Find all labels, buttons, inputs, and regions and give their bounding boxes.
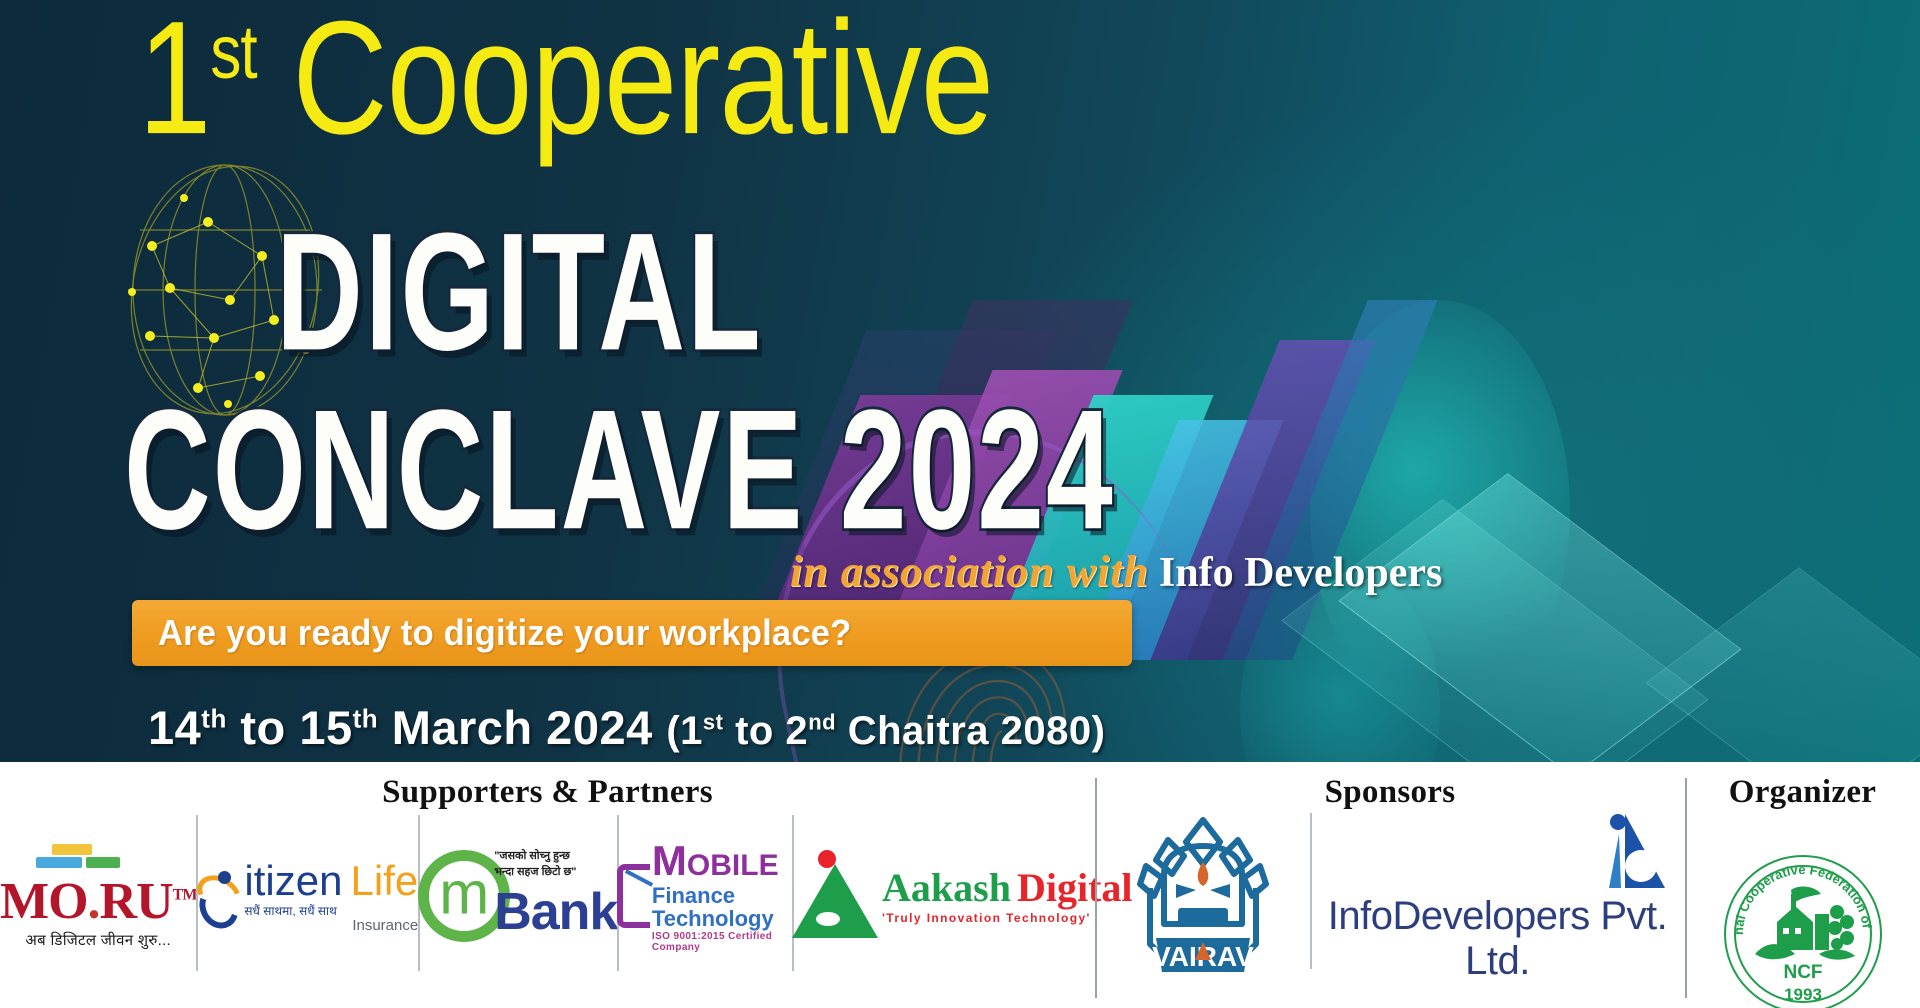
mft-word-rest: OBILE [687,849,779,882]
ncf-seal-icon: National Cooperative Federation of Nepal [1719,850,1887,1008]
moru-wordmark-dot: . [88,873,100,930]
date-bs-to: to 2 [723,709,808,753]
mft-mark-icon [617,864,650,928]
vairav-bhairav-mask-icon: VAIRAV [1128,812,1278,980]
citizen-life-wordmark: itizenLife [244,860,418,902]
date-month-year: March 2024 [378,701,666,754]
date-bs-month-year: Chaitra 2080) [836,709,1105,753]
date-bs-to-ordinal: nd [808,710,836,735]
citizen-life-word-accent: Life [350,857,418,904]
aakash-word-green: Aakash [882,865,1011,910]
tagline-text: Are you ready to digitize your workplace… [158,612,851,654]
aakash-triangle-icon [792,854,878,938]
mft-wordmark: MOBILE [652,839,792,883]
glass-cube-decoration [1281,499,1708,762]
date-day-from: 14 [148,701,201,754]
ncf-abbreviation: NCF [1783,962,1822,983]
association-line: in association withInfo Developers [790,546,1442,597]
association-partner: Info Developers [1159,550,1442,596]
event-banner-poster: 1st Cooperative DIGITAL CONCLAVE 2024 in… [0,0,1920,1008]
glass-cube-decoration [1646,567,1920,762]
citizen-life-tagline: सधैं साथमा, सधैं साथ [244,905,418,917]
mft-iso-certification: ISO 9001:2015 Certified Company [652,932,792,953]
logo-infodevelopers[interactable]: InfoDevelopers Pvt. Ltd. [1310,811,1685,981]
teal-glow-decoration [1310,300,1570,720]
title-line-digital: DIGITAL [276,196,763,389]
supporters-section-title: Supporters & Partners [0,762,1095,811]
infodevelopers-wordmark: InfoDevelopers Pvt. Ltd. [1310,894,1685,984]
title-line-conclave: CONCLAVE 2024 [124,372,1115,568]
mft-subtitle: Finance Technology [652,884,792,930]
infodevelopers-mark-icon [1310,808,1685,892]
event-date-line: 14th to 15th March 2024 (1st to 2nd Chai… [148,700,1105,755]
logo-mobile-finance-technology[interactable]: MOBILE Finance Technology ISO 9001:2015 … [617,811,792,981]
organizer-section: Organizer National Cooperative Federatio… [1685,762,1920,1008]
moru-trademark-icon: TM [173,887,197,904]
date-day-to: 15 [299,701,352,754]
mbank-tagline-line2: भन्दा सहज छिटो छ" [494,866,617,880]
hero-section: 1st Cooperative DIGITAL CONCLAVE 2024 in… [0,0,1920,762]
date-bs-from-ordinal: st [703,710,724,735]
sponsors-logo-row: VAIRAV Inf [1095,811,1685,981]
moru-wordmark-part2: RU [100,873,173,930]
supporters-logo-row: MO.RUTM अब डिजिटल जीवन शुरु... itizenLif… [0,811,1095,981]
mft-word-cap: M [652,837,687,884]
edition-word: Cooperative [292,0,993,167]
edition-number: 1 [138,0,210,167]
logo-aakash-digital[interactable]: AakashDigital 'Truly Innovation Technolo… [792,811,1133,981]
date-bs-open: (1 [666,709,703,753]
organizer-section-title: Organizer [1685,762,1920,811]
diagonal-panel-decoration [1222,300,1437,660]
mbank-wordmark: Bank [494,882,617,942]
ncf-founding-year: 1993 [1784,985,1822,1004]
citizen-life-mark-icon [196,871,242,933]
tagline-ribbon: Are you ready to digitize your workplace… [132,600,1132,666]
date-day-from-ordinal: th [201,703,227,733]
moru-wordmark-part1: MO [0,873,88,930]
sponsors-section: Sponsors [1095,762,1685,1008]
supporters-section: Supporters & Partners MO.RUTM अब डिजिटल … [0,762,1095,1008]
association-prefix: in association with [790,547,1149,596]
date-separator: to [227,701,299,754]
diagonal-panel-decoration [1150,340,1374,660]
moru-wordmark: MO.RUTM [0,876,196,928]
date-bs-group: (1st to 2nd Chaitra 2080) [666,709,1105,753]
edition-ordinal-suffix: st [210,11,256,95]
mbank-tagline-line1: "जसको सोच्नु हुन्छ [494,850,617,864]
glass-cube-decoration [1338,473,1741,762]
footer-logo-bar: Supporters & Partners MO.RUTM अब डिजिटल … [0,762,1920,1008]
moru-bars-icon [36,844,132,874]
logo-mbank[interactable]: "जसको सोच्नु हुन्छ भन्दा सहज छिटो छ" Ban… [418,811,617,981]
logo-citizen-life[interactable]: itizenLife सधैं साथमा, सधैं साथ Insuranc… [196,811,418,981]
moru-tagline: अब डिजिटल जीवन शुरु... [0,933,196,948]
edition-headline: 1st Cooperative [138,0,993,163]
citizen-life-word-main: itizen [244,857,342,904]
logo-ncf[interactable]: National Cooperative Federation of Nepal [1685,811,1920,1008]
citizen-life-subtitle: Insurance [244,918,418,933]
logo-moru[interactable]: MO.RUTM अब डिजिटल जीवन शुरु... [0,811,196,981]
date-day-to-ordinal: th [353,703,379,733]
sponsors-section-title: Sponsors [1095,762,1685,811]
logo-vairav[interactable]: VAIRAV [1095,811,1310,981]
